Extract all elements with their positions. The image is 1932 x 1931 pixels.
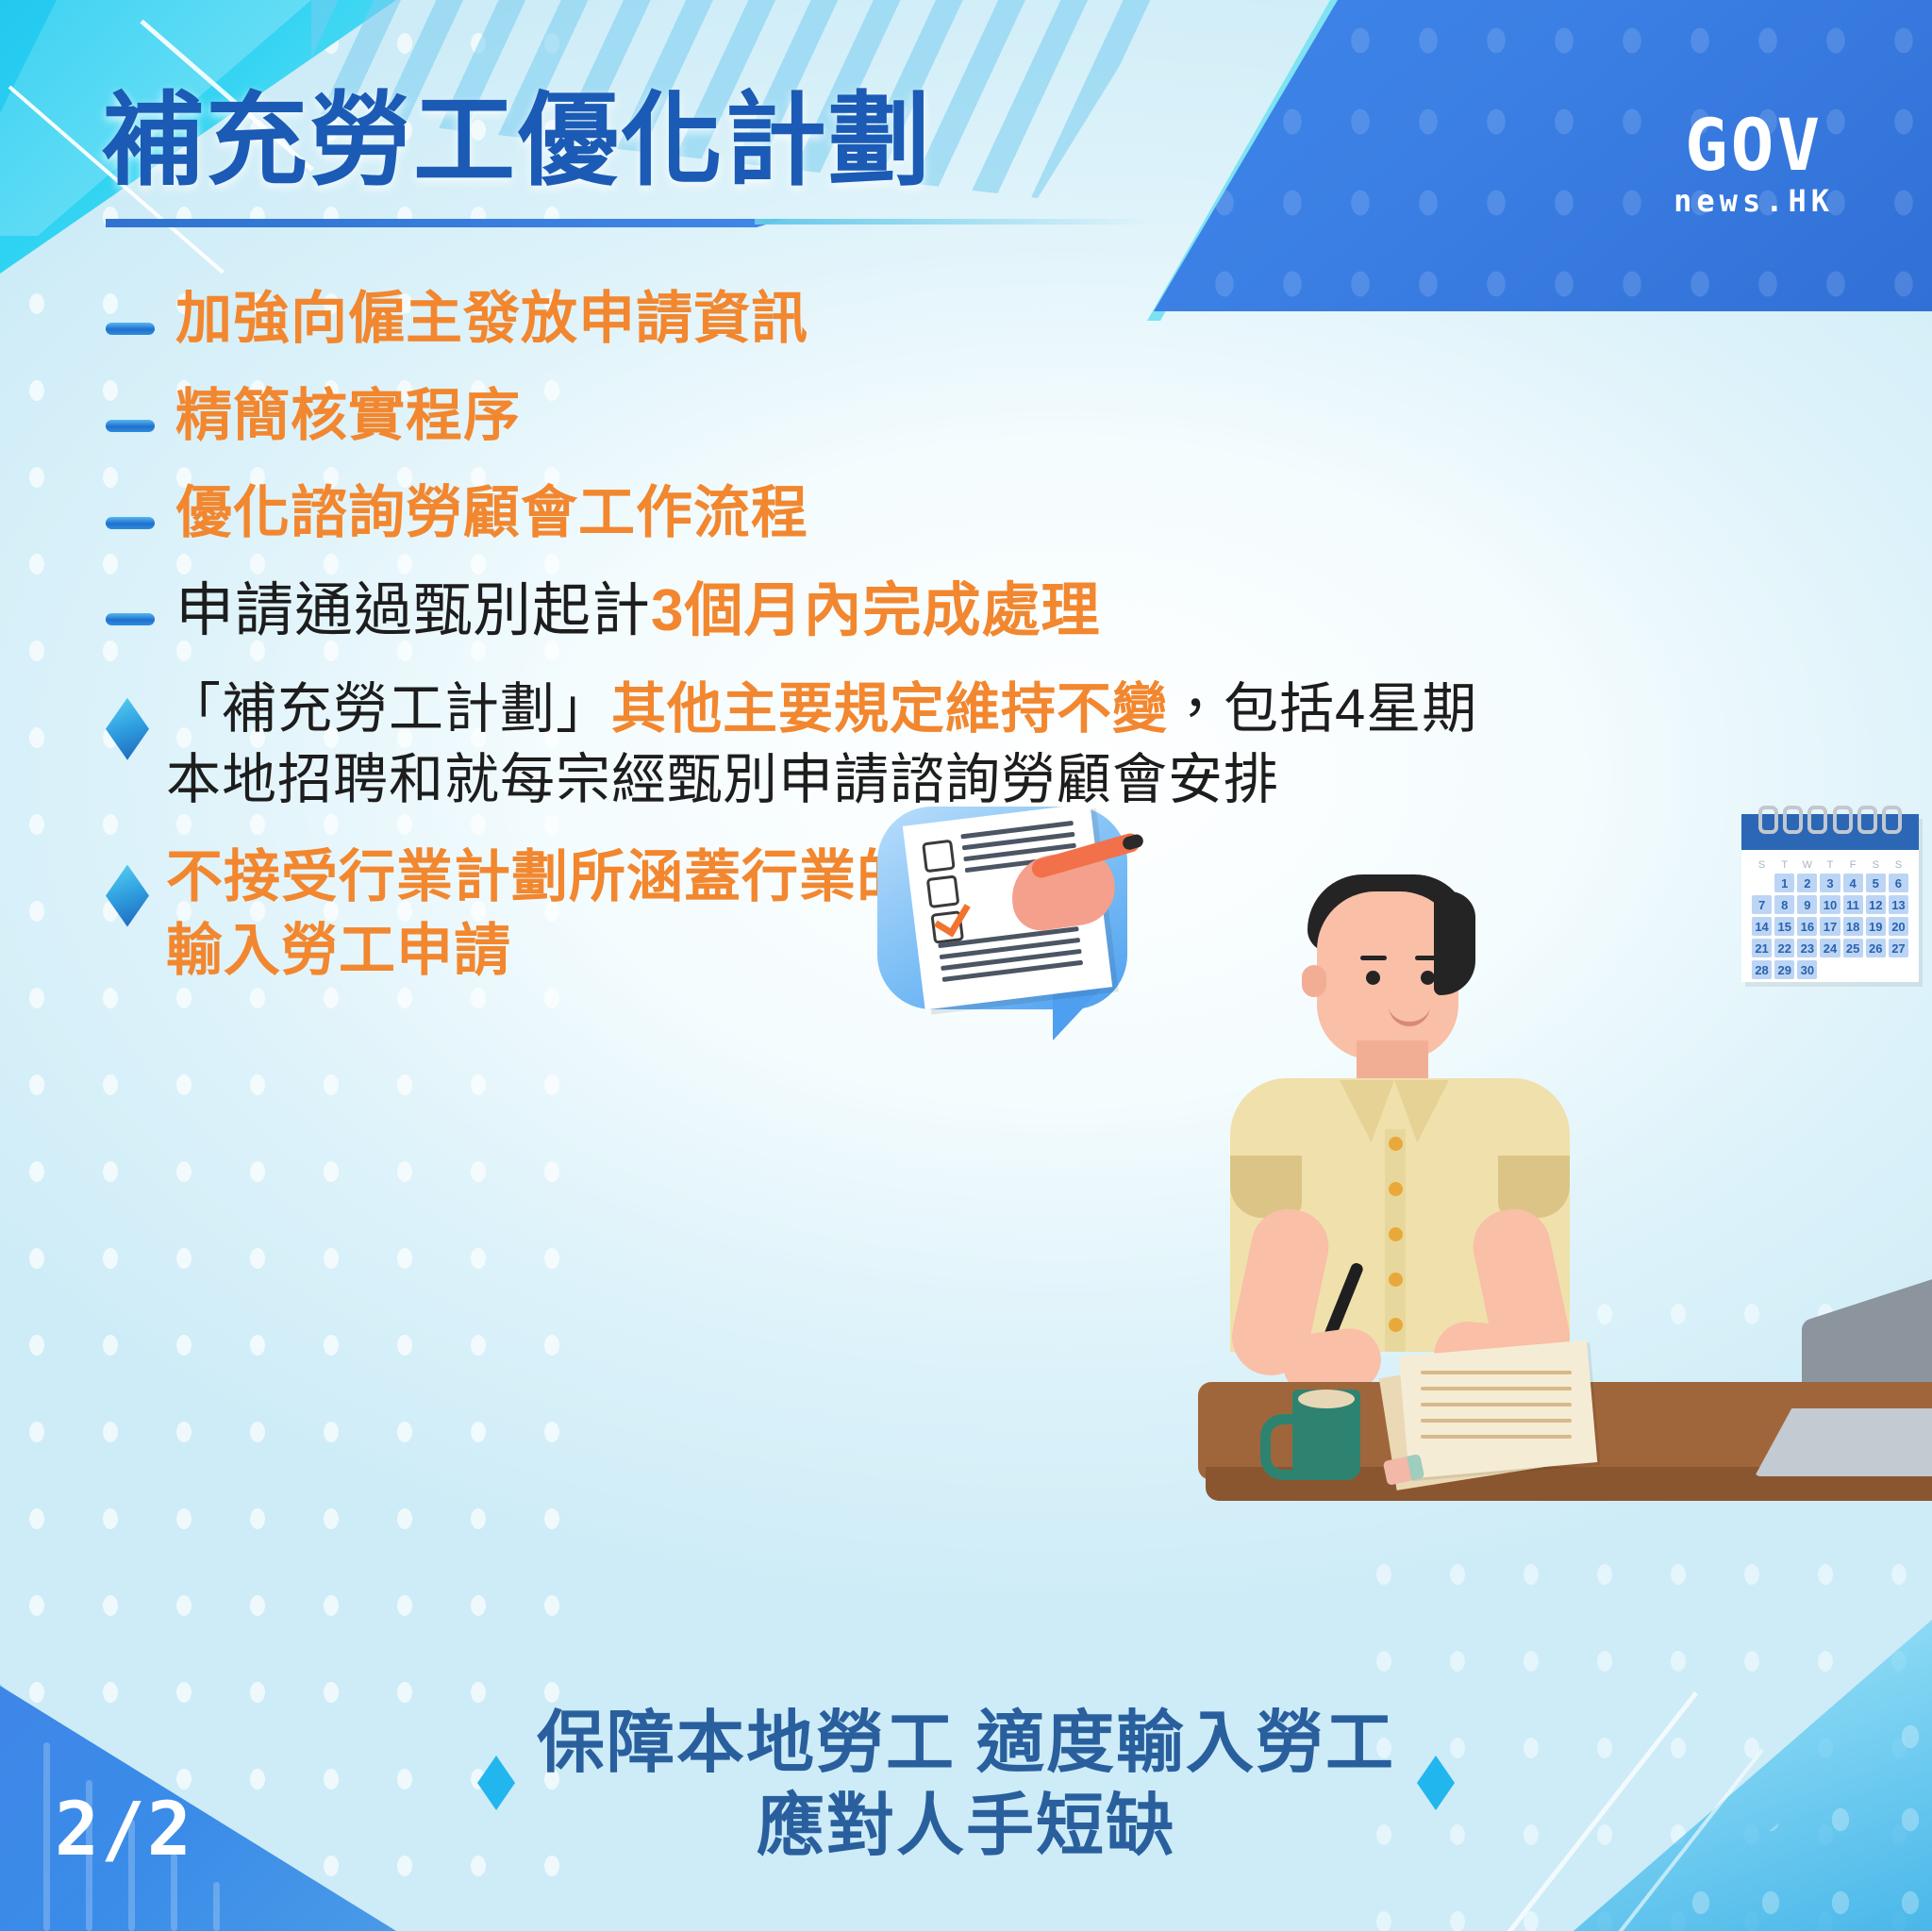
bullet-text: 「補充勞工計劃」其他主要規定維持不變，包括4星期本地招聘和就每宗經甄別申請諮詢勞… [166, 674, 1477, 816]
calendar-day: 26 [1866, 939, 1886, 957]
calendar-day [1866, 960, 1886, 979]
bullet-text-tail: ，包括4星期 [1168, 678, 1477, 740]
calendar-day: 17 [1820, 917, 1840, 936]
list-item: 精簡核實程序 [106, 380, 1832, 453]
calendar-day: 11 [1843, 895, 1863, 914]
calendar-day: 4 [1843, 874, 1863, 892]
calendar-weekday: F [1843, 859, 1863, 871]
calendar-day: 14 [1752, 917, 1772, 936]
list-item: 申請通過甄別起計3個月內完成處理 [106, 574, 1832, 648]
title-underline-extension [755, 219, 1151, 225]
title-underline [106, 219, 757, 227]
bullet-text: 申請通過甄別起計3個月內完成處理 [175, 574, 1101, 648]
calendar-week-row: 14 15 16 17 18 19 20 [1752, 917, 1908, 936]
shirt-button [1389, 1273, 1403, 1287]
calendar-rings [1758, 806, 1902, 834]
calendar-day: 27 [1889, 939, 1908, 957]
bullet-text-orange: 3個月內完成處理 [651, 578, 1100, 643]
calendar-week-row: 1 2 3 4 5 6 [1752, 874, 1908, 892]
calendar-weekday: S [1889, 859, 1908, 871]
calendar-day: 21 [1752, 939, 1772, 957]
dash-bullet-icon [106, 420, 155, 432]
infographic-poster: GOV news.HK 補充勞工優化計劃 加強向僱主發放申請資訊 精簡核實程序 … [0, 0, 1932, 1931]
govnews-logo: GOV news.HK [1674, 111, 1834, 219]
shirt-button [1389, 1182, 1403, 1196]
calendar-day: 18 [1843, 917, 1863, 936]
shirt-button [1389, 1137, 1403, 1151]
calendar-day: 24 [1820, 939, 1840, 957]
eyebrow-left [1360, 956, 1387, 960]
diamond-bullet-icon [106, 865, 149, 927]
calendar-grid: S T W T F S S 1 2 [1741, 850, 1919, 982]
eye-left [1366, 971, 1380, 985]
calendar-icon: S T W T F S S 1 2 [1741, 814, 1919, 982]
shirt-button [1389, 1318, 1403, 1332]
calendar-days: 1 2 3 4 5 6 7 8 9 10 11 [1752, 874, 1908, 979]
list-item: 加強向僱主發放申請資訊 [106, 283, 1832, 356]
ear-shape [1302, 965, 1326, 997]
dash-bullet-icon [106, 323, 155, 335]
logo-newshk-text: news.HK [1674, 183, 1834, 219]
calendar-day [1889, 960, 1908, 979]
calendar-day: 20 [1889, 917, 1908, 936]
bullet-text: 加強向僱主發放申請資訊 [175, 283, 808, 356]
calendar-day: 13 [1889, 895, 1908, 914]
page-title: 補充勞工優化計劃 [102, 87, 932, 193]
calendar-week-row: 7 8 9 10 11 12 13 [1752, 895, 1908, 914]
calendar-day [1752, 874, 1772, 892]
calendar-day: 29 [1774, 960, 1794, 979]
bullet-text-quoted-scheme: 「補充勞工計劃」 [166, 678, 611, 740]
eye-right [1421, 971, 1435, 985]
dash-bullet-icon [106, 613, 155, 625]
calendar-day: 9 [1797, 895, 1817, 914]
calendar-day: 12 [1866, 895, 1886, 914]
calendar-day: 1 [1774, 874, 1794, 892]
bullet-text: 優化諮詢勞顧會工作流程 [175, 477, 808, 550]
illustration: S T W T F S S 1 2 [868, 797, 1932, 1457]
calendar-day: 10 [1820, 895, 1840, 914]
bullet-text-line2: 輸入勞工申請 [166, 919, 511, 982]
eyebrow-right [1415, 956, 1441, 960]
calendar-day [1820, 960, 1840, 979]
handwriting-lines [1421, 1371, 1572, 1451]
list-item: 優化諮詢勞顧會工作流程 [106, 477, 1832, 550]
person-writing-illustration [1151, 854, 1679, 1457]
tagline-line-2: 應對人手短缺 [0, 1786, 1932, 1869]
calendar-weekday: S [1866, 859, 1886, 871]
footer-tagline: 保障本地勞工 適度輸入勞工 應對人手短缺 [0, 1703, 1932, 1869]
calendar-day: 19 [1866, 917, 1886, 936]
bullet-text: 不接受行業計劃所涵蓋行業的輸入勞工申請 [166, 841, 914, 988]
hair-side-shape [1434, 891, 1475, 995]
calendar-day: 2 [1797, 874, 1817, 892]
calendar-day: 8 [1774, 895, 1794, 914]
calendar-day [1843, 960, 1863, 979]
dash-bullet-icon [106, 517, 155, 529]
calendar-day: 3 [1820, 874, 1840, 892]
calendar-weekday-row: S T W T F S S [1752, 859, 1908, 871]
logo-gov-text: GOV [1674, 111, 1834, 179]
calendar-day: 22 [1774, 939, 1794, 957]
calendar-day: 28 [1752, 960, 1772, 979]
calendar-day: 23 [1797, 939, 1817, 957]
checkbox-icon [922, 840, 956, 874]
calendar-day: 25 [1843, 939, 1863, 957]
calendar-weekday: S [1752, 859, 1772, 871]
calendar-day: 6 [1889, 874, 1908, 892]
bullet-text-highlight: 其他主要規定維持不變 [611, 678, 1168, 740]
shirt-button [1389, 1227, 1403, 1241]
calendar-day: 30 [1797, 960, 1817, 979]
calendar-day: 7 [1752, 895, 1772, 914]
calendar-week-row: 28 29 30 [1752, 960, 1908, 979]
calendar-week-row: 21 22 23 24 25 26 27 [1752, 939, 1908, 957]
calendar-weekday: W [1797, 859, 1817, 871]
calendar-day: 16 [1797, 917, 1817, 936]
bullet-text: 精簡核實程序 [175, 380, 521, 453]
calendar-weekday: T [1774, 859, 1794, 871]
calendar-day: 15 [1774, 917, 1794, 936]
bullet-text-line1: 不接受行業計劃所涵蓋行業的 [166, 845, 914, 908]
list-item: 「補充勞工計劃」其他主要規定維持不變，包括4星期本地招聘和就每宗經甄別申請諮詢勞… [106, 674, 1832, 816]
calendar-day: 5 [1866, 874, 1886, 892]
tagline-line-1: 保障本地勞工 適度輸入勞工 [0, 1703, 1932, 1786]
calendar-weekday: T [1820, 859, 1840, 871]
bullet-text-black: 申請通過甄別起計 [175, 578, 651, 643]
diamond-bullet-icon [106, 698, 149, 760]
mug-liquid [1298, 1390, 1355, 1408]
